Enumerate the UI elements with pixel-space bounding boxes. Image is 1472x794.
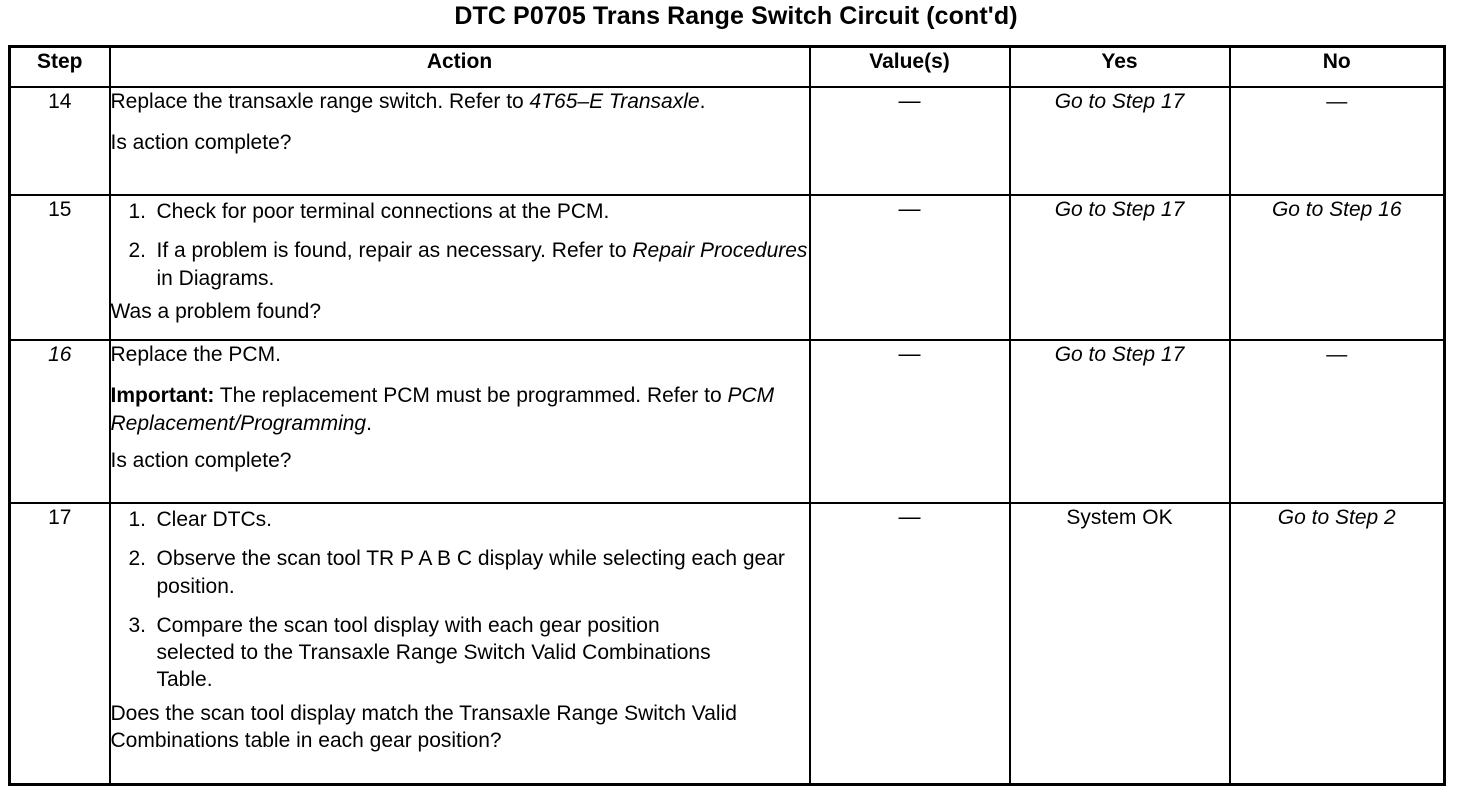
no-cell: — <box>1230 87 1445 195</box>
yes-action-text: Go to Step 17 <box>1055 343 1185 366</box>
action-list-item: 1. Clear DTCs. <box>111 506 809 533</box>
table-row: 17 1. Clear DTCs. 2. Observe the scan to… <box>10 503 1445 784</box>
no-action-text: — <box>1326 90 1347 113</box>
diagnostic-table-wrapper: Step Action Value(s) Yes No 14 Replace t… <box>8 45 1443 786</box>
action-question: Is action complete? <box>111 447 809 474</box>
step-number: 15 <box>48 198 71 221</box>
yes-action-text: Go to Step 17 <box>1055 90 1185 113</box>
step-number-cell: 16 <box>10 340 110 503</box>
step-number-cell: 17 <box>10 503 110 784</box>
action-question: Does the scan tool display match the Tra… <box>111 700 809 755</box>
list-item-number: 1. <box>129 198 147 225</box>
action-cell: 1. Clear DTCs. 2. Observe the scan tool … <box>110 503 810 784</box>
step-number: 16 <box>48 343 71 366</box>
yes-action-text: System OK <box>1066 506 1172 529</box>
no-cell: Go to Step 16 <box>1230 195 1445 340</box>
no-action-text: Go to Step 2 <box>1278 506 1396 529</box>
value-cell: — <box>810 195 1010 340</box>
action-list-item: 1. Check for poor terminal connections a… <box>111 198 809 225</box>
value-text: — <box>899 343 921 365</box>
page-title: DTC P0705 Trans Range Switch Circuit (co… <box>0 2 1472 31</box>
list-item-text-tail: in Diagrams. <box>157 267 275 290</box>
action-list-item: 3. Compare the scan tool display with ea… <box>111 612 809 694</box>
column-header-action: Action <box>110 47 810 88</box>
no-cell: Go to Step 2 <box>1230 503 1445 784</box>
step-number: 17 <box>48 506 71 529</box>
yes-cell: Go to Step 17 <box>1010 340 1230 503</box>
document-page: DTC P0705 Trans Range Switch Circuit (co… <box>0 0 1472 794</box>
list-item-text: Compare the scan tool display with each … <box>157 614 711 692</box>
step-number: 14 <box>48 90 71 113</box>
value-cell: — <box>810 340 1010 503</box>
action-important-note: Important: The replacement PCM must be p… <box>111 382 809 437</box>
action-list-item: 2.If a problem is found, repair as neces… <box>111 237 809 292</box>
action-question: Was a problem found? <box>111 298 809 325</box>
table-header-row: Step Action Value(s) Yes No <box>10 47 1445 88</box>
instruction-tail: . <box>700 90 706 113</box>
value-cell: — <box>810 87 1010 195</box>
table-row: 14 Replace the transaxle range switch. R… <box>10 87 1445 195</box>
column-header-no: No <box>1230 47 1445 88</box>
action-cell: Replace the transaxle range switch. Refe… <box>110 87 810 195</box>
step-number-cell: 15 <box>10 195 110 340</box>
column-header-yes: Yes <box>1010 47 1230 88</box>
yes-action-text: Go to Step 17 <box>1055 198 1185 221</box>
value-cell: — <box>810 503 1010 784</box>
yes-cell: Go to Step 17 <box>1010 87 1230 195</box>
step-number-cell: 14 <box>10 87 110 195</box>
action-numbered-list: 1. Check for poor terminal connections a… <box>111 198 809 292</box>
important-text: The replacement PCM must be programmed. … <box>214 384 727 407</box>
list-item-text: Observe the scan tool TR P A B C display… <box>157 547 785 597</box>
list-item-reference: Repair Procedures <box>632 239 807 262</box>
action-list-item: 2. Observe the scan tool TR P A B C disp… <box>111 545 809 600</box>
table-body: 14 Replace the transaxle range switch. R… <box>10 87 1445 784</box>
diagnostic-table: Step Action Value(s) Yes No 14 Replace t… <box>8 45 1446 786</box>
list-item-number: 1. <box>129 506 147 533</box>
table-row: 15 1. Check for poor terminal connection… <box>10 195 1445 340</box>
list-item-number: 2. <box>129 237 147 264</box>
action-instruction: Replace the PCM. <box>111 341 809 368</box>
column-header-value: Value(s) <box>810 47 1010 88</box>
list-item-text: Clear DTCs. <box>157 508 273 531</box>
column-header-step: Step <box>10 47 110 88</box>
list-item-number: 3. <box>129 612 147 639</box>
table-row: 16 Replace the PCM. Important: The repla… <box>10 340 1445 503</box>
list-item-text: Check for poor terminal connections at t… <box>157 200 610 223</box>
action-numbered-list: 1. Clear DTCs. 2. Observe the scan tool … <box>111 506 809 694</box>
action-cell: 1. Check for poor terminal connections a… <box>110 195 810 340</box>
table-header: Step Action Value(s) Yes No <box>10 47 1445 88</box>
no-action-text: Go to Step 16 <box>1272 198 1402 221</box>
action-question: Is action complete? <box>111 129 809 156</box>
action-cell: Replace the PCM. Important: The replacem… <box>110 340 810 503</box>
action-instruction: Replace the transaxle range switch. Refe… <box>111 88 809 115</box>
important-label: Important: <box>111 384 215 407</box>
instruction-text: Replace the transaxle range switch. Refe… <box>111 90 530 113</box>
no-cell: — <box>1230 340 1445 503</box>
value-text: — <box>899 198 921 220</box>
list-item-number: 2. <box>129 545 147 572</box>
instruction-reference: 4T65–E Transaxle <box>530 90 700 113</box>
important-tail: . <box>366 412 372 435</box>
no-action-text: — <box>1326 343 1347 366</box>
yes-cell: System OK <box>1010 503 1230 784</box>
yes-cell: Go to Step 17 <box>1010 195 1230 340</box>
list-item-text: If a problem is found, repair as necessa… <box>157 239 633 262</box>
value-text: — <box>899 506 921 528</box>
value-text: — <box>899 90 921 112</box>
